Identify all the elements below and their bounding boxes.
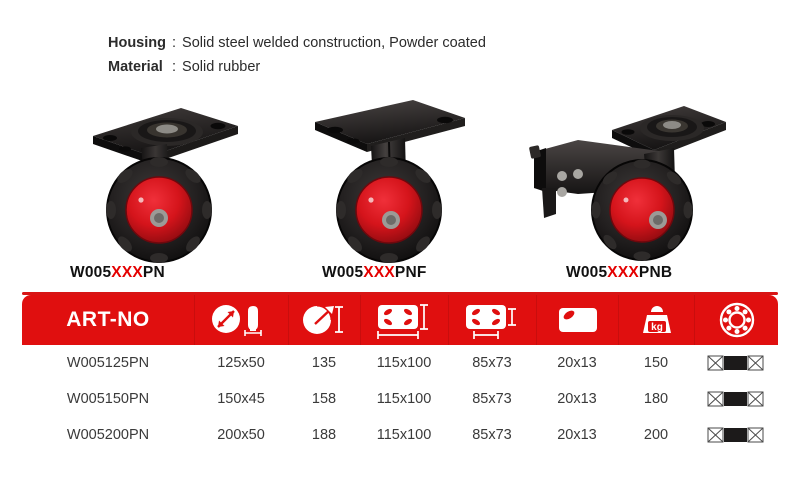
cell-load-capacity: 150: [618, 355, 694, 371]
table-body: W005125PN 125x50 135 115x100 85x73 20x13…: [22, 345, 778, 453]
table-row: W005125PN 125x50 135 115x100 85x73 20x13…: [22, 345, 778, 381]
cell-overall-height: 188: [288, 427, 360, 443]
table-row: W005150PN 150x45 158 115x100 85x73 20x13…: [22, 381, 778, 417]
spec-row-material: Material : Solid rubber: [108, 59, 486, 83]
specification-block: Housing : Solid steel welded constructio…: [108, 35, 486, 83]
label-suffix: PN: [143, 264, 165, 281]
ball-bearing-icon: [718, 301, 756, 339]
swivel-caster-illustration: [63, 92, 263, 267]
cell-bolt-hole-size: 20x13: [536, 427, 618, 443]
plate-size-icon: [374, 301, 436, 339]
label-suffix: PNB: [639, 264, 672, 281]
table-header-overall-height: [288, 295, 360, 345]
label-suffix: PNF: [395, 264, 427, 281]
cell-wheel-size: 125x50: [194, 355, 288, 371]
label-prefix: W005: [566, 264, 607, 281]
table-header-bolt-hole-size: [536, 295, 618, 345]
cell-bolt-hole-spacing: 85x73: [448, 427, 536, 443]
specification-table: ART-NO: [22, 292, 778, 453]
cell-art-no: W005125PN: [22, 355, 194, 371]
table-row: W005200PN 200x50 188 115x100 85x73 20x13…: [22, 417, 778, 453]
roller-bearing-symbol: [707, 426, 765, 444]
bolt-hole-spacing-icon: [462, 301, 524, 339]
load-capacity-kg-icon: kg: [635, 301, 679, 339]
product-label-row: W005XXXPN W005XXXPNF W005XXXPNB: [0, 264, 800, 288]
cell-overall-height: 135: [288, 355, 360, 371]
label-variable-digits: XXX: [607, 264, 639, 281]
product-image-brake-caster: [508, 92, 738, 292]
spec-row-housing: Housing : Solid steel welded constructio…: [108, 35, 486, 59]
product-image-swivel-caster: [48, 92, 278, 292]
cell-bearing: [694, 390, 778, 408]
roller-bearing-symbol: [707, 390, 765, 408]
label-variable-digits: XXX: [111, 264, 143, 281]
wheel-diameter-width-icon: [209, 302, 275, 338]
swivel-radius-icon: [301, 302, 349, 338]
cell-art-no: W005200PN: [22, 427, 194, 443]
art-no-header-label: ART-NO: [66, 308, 150, 332]
cell-bolt-hole-size: 20x13: [536, 391, 618, 407]
cell-bearing: [694, 426, 778, 444]
cell-load-capacity: 180: [618, 391, 694, 407]
product-label-rigid: W005XXXPNF: [322, 264, 427, 282]
bolt-hole-size-icon: [555, 303, 601, 337]
cell-wheel-size: 150x45: [194, 391, 288, 407]
cell-art-no: W005150PN: [22, 391, 194, 407]
kg-unit-text: kg: [651, 322, 663, 333]
brake-caster-illustration: [516, 92, 731, 267]
table-header-art-no: ART-NO: [22, 295, 194, 345]
cell-plate-size: 115x100: [360, 391, 448, 407]
table-header-bolt-hole-spacing: [448, 295, 536, 345]
cell-bearing: [694, 354, 778, 372]
label-prefix: W005: [322, 264, 363, 281]
cell-load-capacity: 200: [618, 427, 694, 443]
rigid-caster-illustration: [293, 92, 493, 267]
spec-colon: :: [172, 59, 176, 75]
spec-label-material: Material: [108, 59, 170, 75]
cell-wheel-size: 200x50: [194, 427, 288, 443]
spec-label-housing: Housing: [108, 35, 170, 51]
cell-overall-height: 158: [288, 391, 360, 407]
product-label-swivel: W005XXXPN: [70, 264, 165, 282]
table-header-load-capacity: kg: [618, 295, 694, 345]
cell-plate-size: 115x100: [360, 427, 448, 443]
cell-bolt-hole-spacing: 85x73: [448, 391, 536, 407]
roller-bearing-symbol: [707, 354, 765, 372]
product-image-rigid-caster: [278, 92, 508, 292]
label-variable-digits: XXX: [363, 264, 395, 281]
cell-plate-size: 115x100: [360, 355, 448, 371]
spec-value-housing: Solid steel welded construction, Powder …: [182, 35, 486, 51]
table-header-plate-size: [360, 295, 448, 345]
label-prefix: W005: [70, 264, 111, 281]
product-label-brake: W005XXXPNB: [566, 264, 672, 282]
cell-bolt-hole-size: 20x13: [536, 355, 618, 371]
spec-value-material: Solid rubber: [182, 59, 260, 75]
product-image-row: [0, 92, 800, 292]
table-header-row: ART-NO: [22, 295, 778, 345]
cell-bolt-hole-spacing: 85x73: [448, 355, 536, 371]
table-header-wheel-size: [194, 295, 288, 345]
table-header-bearing: [694, 295, 778, 345]
spec-colon: :: [172, 35, 176, 51]
